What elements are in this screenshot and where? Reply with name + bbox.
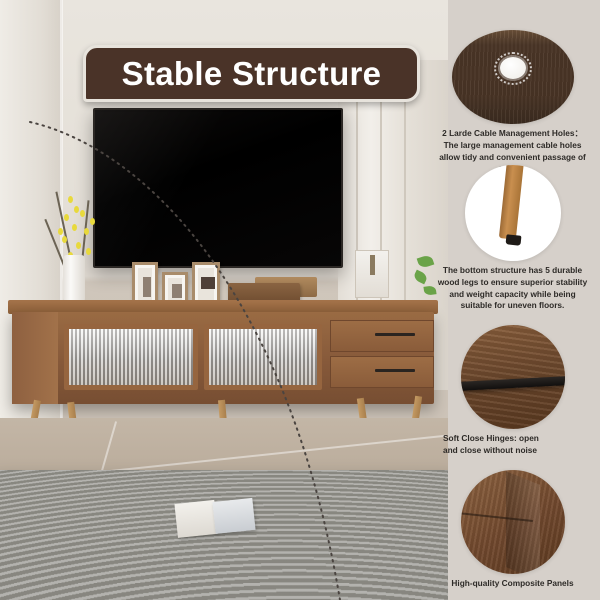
tv-console (8, 300, 438, 410)
title-banner: Stable Structure (83, 45, 420, 102)
page-title: Stable Structure (122, 55, 382, 93)
caption-line: 2 Larde Cable Management Holes： (431, 128, 594, 140)
magazine-right-page (212, 498, 255, 534)
drawer-handle-icon (375, 333, 415, 336)
fluted-glass-door-left[interactable] (64, 324, 198, 390)
feature-composite-panels: High-quality Composite Panels (425, 470, 600, 590)
glass-reflection (209, 329, 317, 385)
drawer-handle-icon (375, 369, 415, 372)
caption-line: Soft Close Hinges: open (443, 433, 594, 445)
feature-rail: 2 Larde Cable Management Holes： The larg… (425, 0, 600, 600)
magazine-left-page (174, 500, 217, 538)
feature-soft-close-hinges: Soft Close Hinges: open and close withou… (425, 325, 600, 457)
frame-image (172, 284, 182, 298)
caption-line: The bottom structure has 5 durable (431, 265, 594, 277)
cable-hole-opening (500, 57, 526, 79)
frame-image (201, 277, 215, 289)
rug-wave-pattern (0, 470, 448, 600)
panel-edge-face (506, 471, 540, 574)
infographic-page: Stable Structure 2 Larde Cable Managemen… (0, 0, 600, 600)
white-vase (63, 255, 85, 305)
leg-foot-cap (505, 234, 521, 246)
lamp-stem (370, 255, 375, 275)
glass-reflection (69, 329, 193, 385)
caption-line: and weight capacity while being (431, 289, 594, 301)
drawer-bottom[interactable] (330, 356, 434, 388)
feature-caption: The bottom structure has 5 durable wood … (425, 265, 600, 312)
cabinet-left-side (12, 312, 58, 404)
caption-line: High-quality Composite Panels (431, 578, 594, 590)
table-lamp (355, 250, 389, 298)
feature-caption: Soft Close Hinges: open and close withou… (425, 433, 600, 457)
caption-line: and close without noise (443, 445, 594, 457)
drawer-handle-icon (461, 325, 565, 429)
frame-image (143, 277, 151, 297)
wood-leg-icon (465, 165, 561, 261)
striped-area-rug (0, 470, 448, 600)
cable-hole-icon (452, 30, 574, 124)
panel-corner-icon (461, 470, 565, 574)
tv-screen-reflection (95, 110, 341, 266)
wall-mounted-tv (93, 108, 343, 268)
drawer-top[interactable] (330, 320, 434, 352)
feature-cable-management: 2 Larde Cable Management Holes： The larg… (425, 30, 600, 175)
console-cabinet-body (12, 312, 434, 404)
caption-line: wood legs to ensure superior stability (431, 277, 594, 289)
caption-line: suitable for uneven floors. (431, 300, 594, 312)
fluted-glass-door-right[interactable] (204, 324, 322, 390)
feature-wood-legs: The bottom structure has 5 durable wood … (425, 165, 600, 312)
caption-line: The large management cable holes (431, 140, 594, 152)
feature-caption: High-quality Composite Panels (425, 578, 600, 590)
wood-leg-shape (499, 165, 524, 240)
